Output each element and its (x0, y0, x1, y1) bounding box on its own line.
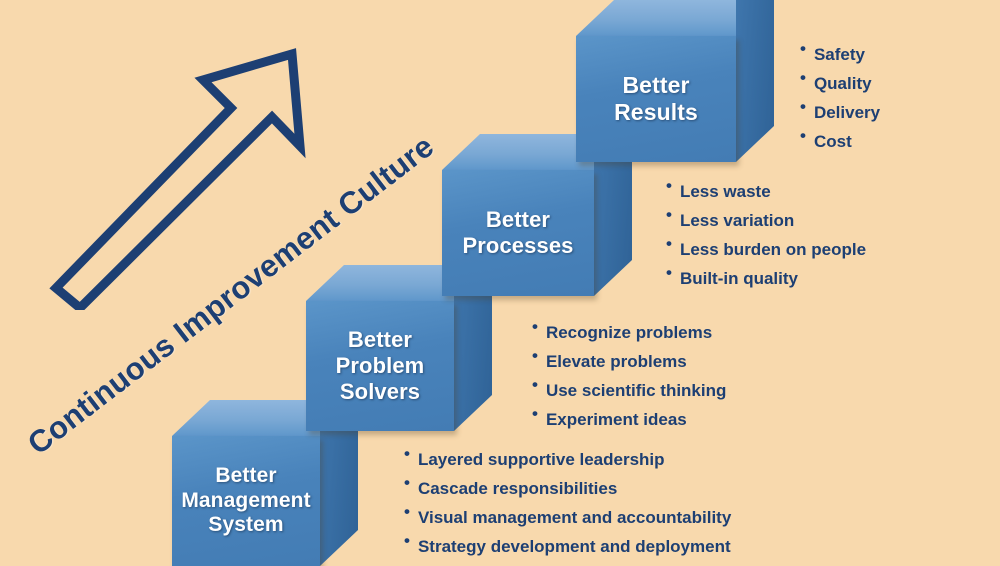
bullet-text: Less variation (680, 206, 794, 235)
bullet-glyph: • (532, 347, 538, 364)
bullet-list-better-problem-solvers: • Recognize problems • Elevate problems … (532, 318, 726, 434)
bullet-glyph: • (800, 69, 806, 86)
bullet-item: • Elevate problems (532, 347, 726, 376)
bullet-item: • Built-in quality (666, 264, 866, 293)
bullet-item: • Delivery (800, 98, 880, 127)
bullet-item: • Less variation (666, 206, 866, 235)
bullet-text: Built-in quality (680, 264, 798, 293)
bullet-text: Delivery (814, 98, 880, 127)
bullet-item: • Layered supportive leadership (404, 445, 731, 474)
bullet-item: • Less waste (666, 177, 866, 206)
bullet-glyph: • (532, 405, 538, 422)
bullet-list-better-processes: • Less waste • Less variation • Less bur… (666, 177, 866, 293)
cube-label-line: Better (215, 464, 276, 489)
cube-label: Better Results (576, 36, 736, 162)
bullet-text: Cascade responsibilities (418, 474, 617, 503)
cube-label: Better Problem Solvers (306, 301, 454, 431)
bullet-text: Visual management and accountability (418, 503, 731, 532)
cube-better-management-system[interactable]: Better Management System (172, 436, 320, 566)
bullet-glyph: • (404, 445, 410, 462)
bullet-item: • Cascade responsibilities (404, 474, 731, 503)
bullet-item: • Strategy development and deployment (404, 532, 731, 561)
bullet-text: Strategy development and deployment (418, 532, 731, 561)
cube-top-face (576, 0, 736, 36)
cube-top-face (172, 400, 320, 436)
cube-label-line: Better (622, 72, 689, 99)
bullet-glyph: • (800, 127, 806, 144)
bullet-list-better-results: • Safety • Quality • Delivery • Cost (800, 40, 880, 156)
cube-label-line: Solvers (340, 379, 420, 405)
bullet-text: Quality (814, 69, 872, 98)
cube-top-face (442, 134, 594, 170)
upward-improvement-arrow (40, 20, 340, 315)
bullet-glyph: • (666, 206, 672, 223)
bullet-glyph: • (532, 318, 538, 335)
bullet-item: • Quality (800, 69, 880, 98)
bullet-glyph: • (532, 376, 538, 393)
cube-label: Better Processes (442, 170, 594, 296)
bullet-text: Cost (814, 127, 852, 156)
bullet-glyph: • (666, 177, 672, 194)
bullet-text: Less burden on people (680, 235, 866, 264)
bullet-glyph: • (404, 503, 410, 520)
cube-label-line: Better (348, 327, 412, 353)
bullet-item: • Use scientific thinking (532, 376, 726, 405)
bullet-list-better-management-system: • Layered supportive leadership • Cascad… (404, 445, 731, 561)
cube-label-line: Management (181, 489, 310, 514)
cube-label-line: Processes (463, 233, 574, 259)
bullet-text: Experiment ideas (546, 405, 687, 434)
bullet-item: • Recognize problems (532, 318, 726, 347)
bullet-item: • Cost (800, 127, 880, 156)
cube-side-face (736, 0, 774, 162)
bullet-text: Layered supportive leadership (418, 445, 665, 474)
bullet-text: Use scientific thinking (546, 376, 726, 405)
bullet-glyph: • (666, 235, 672, 252)
bullet-item: • Experiment ideas (532, 405, 726, 434)
cube-label-line: System (208, 513, 283, 538)
bullet-item: • Visual management and accountability (404, 503, 731, 532)
cube-label-line: Problem (336, 353, 425, 379)
bullet-item: • Less burden on people (666, 235, 866, 264)
bullet-glyph: • (404, 532, 410, 549)
bullet-glyph: • (800, 40, 806, 57)
cube-better-results[interactable]: Better Results (576, 36, 736, 162)
bullet-text: Recognize problems (546, 318, 712, 347)
bullet-text: Safety (814, 40, 865, 69)
bullet-text: Less waste (680, 177, 771, 206)
cube-label-line: Results (614, 99, 698, 126)
bullet-text: Elevate problems (546, 347, 687, 376)
cube-better-processes[interactable]: Better Processes (442, 170, 594, 296)
bullet-glyph: • (800, 98, 806, 115)
diagram-canvas: Continuous Improvement Culture Better Ma… (0, 0, 1000, 566)
bullet-glyph: • (666, 264, 672, 281)
cube-better-problem-solvers[interactable]: Better Problem Solvers (306, 301, 454, 431)
bullet-glyph: • (404, 474, 410, 491)
cube-label-line: Better (486, 207, 550, 233)
bullet-item: • Safety (800, 40, 880, 69)
cube-label: Better Management System (172, 436, 320, 566)
